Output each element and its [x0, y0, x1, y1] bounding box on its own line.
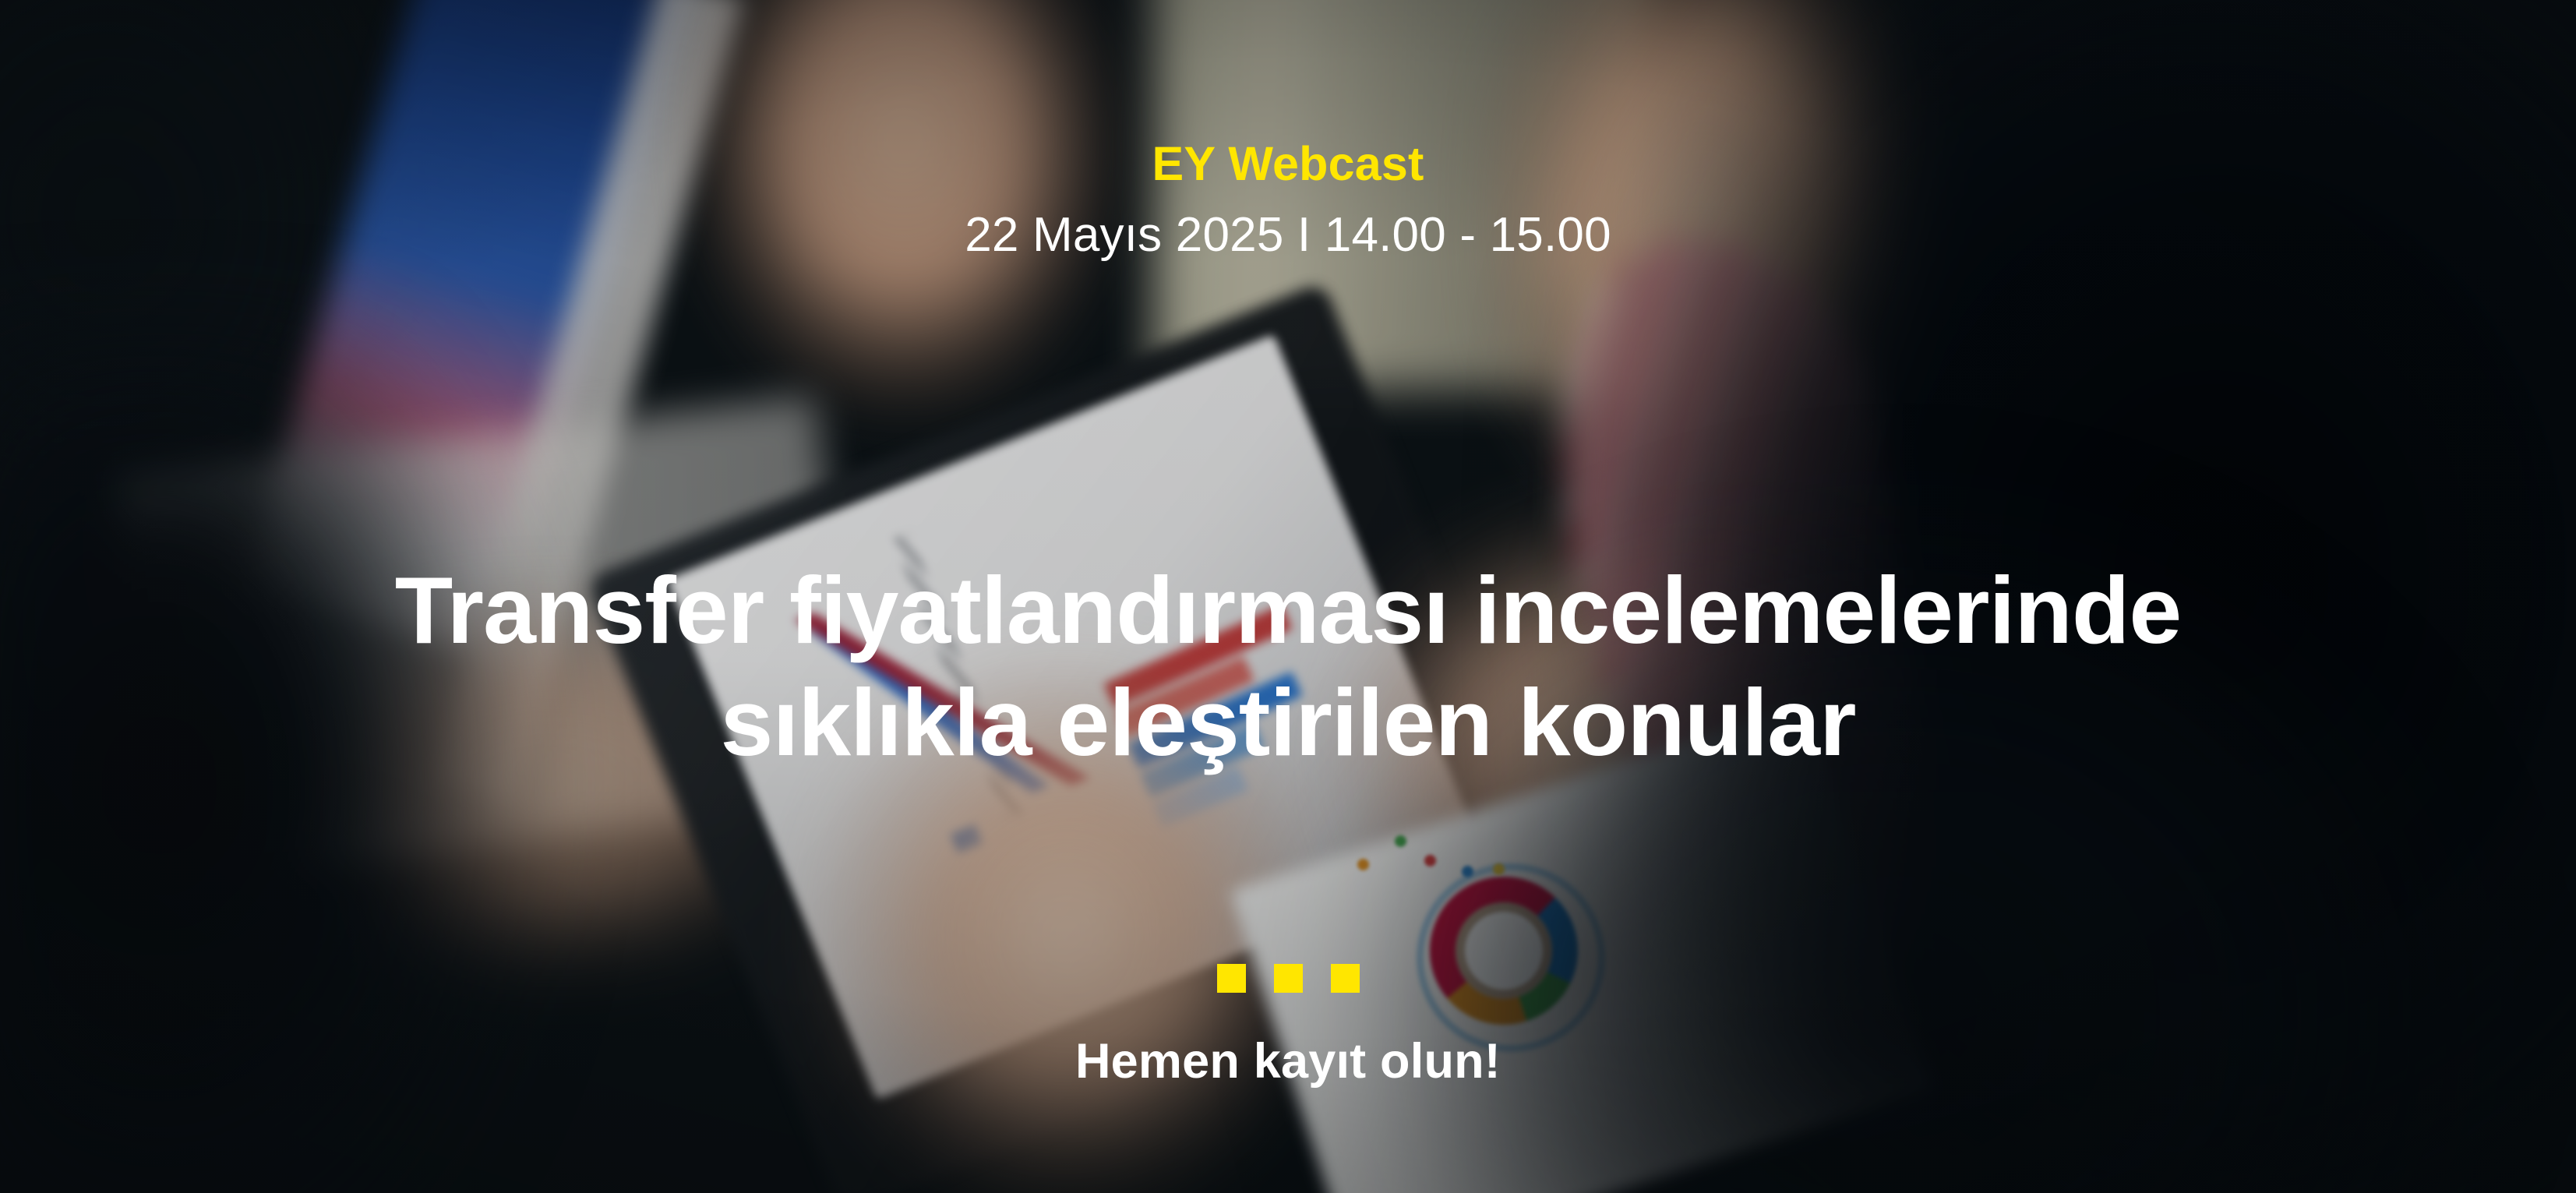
yellow-square-icon [1274, 964, 1303, 993]
page-title: Transfer fiyatlandırması incelemelerinde… [0, 555, 2576, 779]
yellow-square-icon [1331, 964, 1360, 993]
page-title-line-2: sıklıkla eleştirilen konular [94, 667, 2482, 779]
banner-content: EY Webcast 22 Mayıs 2025 I 14.00 - 15.00… [0, 0, 2576, 1193]
webcast-datetime: 22 Mayıs 2025 I 14.00 - 15.00 [0, 209, 2576, 262]
webcast-eyebrow-label: EY Webcast [0, 139, 2576, 189]
ey-webcast-banner: EY Webcast 22 Mayıs 2025 I 14.00 - 15.00… [0, 0, 2576, 1193]
page-title-line-1: Transfer fiyatlandırması incelemelerinde [94, 555, 2482, 667]
register-cta-label[interactable]: Hemen kayıt olun! [0, 1035, 2576, 1089]
decorative-squares [0, 964, 2576, 993]
yellow-square-icon [1217, 964, 1246, 993]
